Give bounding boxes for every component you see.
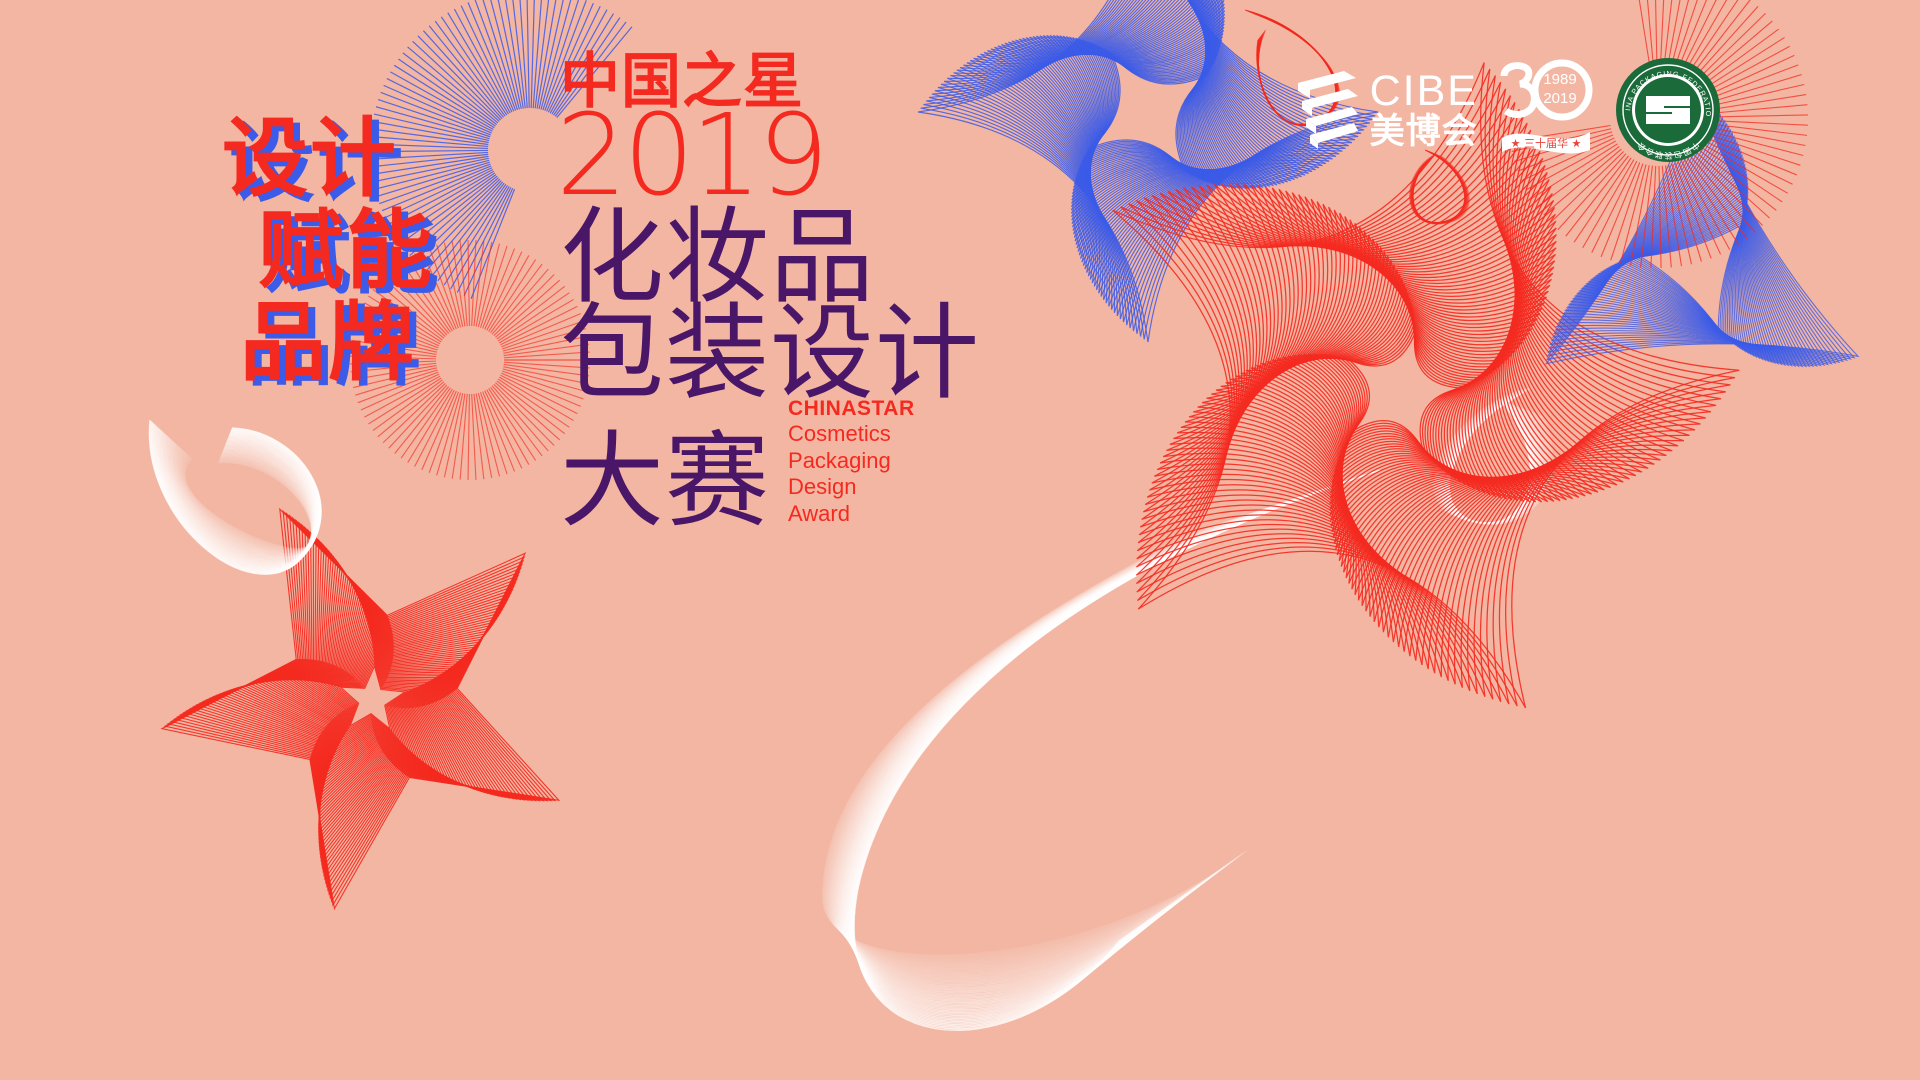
- red-left-star-spiral-icon: [162, 509, 559, 909]
- slogan-line-2: 赋能 赋能: [258, 210, 434, 302]
- anniversary-year-to: 2019: [1543, 90, 1576, 107]
- slogan-line-2-face: 赋能: [258, 201, 434, 301]
- slogan-block: 设计 设计 赋能 赋能 品牌 品牌: [222, 118, 434, 394]
- anniversary-30-badge: 1989 2019 ★ 三十届华 ★: [1498, 58, 1594, 162]
- cibe-latin-text: CIBE: [1370, 70, 1478, 114]
- english-head: CHINASTAR: [788, 396, 915, 421]
- main-title-block: 中国之星 2019 化妆品 包装设计 大赛 CHINASTAR Cosmetic…: [560, 52, 980, 533]
- title-bottom-row: 大赛 CHINASTAR Cosmetics Packaging Design …: [560, 396, 980, 533]
- cibe-chinese-text: 美博会: [1370, 115, 1478, 151]
- slogan-line-1: 设计 设计: [222, 118, 434, 210]
- slogan-line-3: 品牌 品牌: [240, 302, 434, 394]
- anniversary-year-from: 1989: [1543, 71, 1576, 88]
- title-line-competition: 大赛: [560, 429, 770, 533]
- title-year-wrap: 2019: [560, 108, 800, 208]
- english-line-packaging: Packaging: [788, 448, 915, 474]
- anniversary-ribbon: ★ 三十届华 ★: [1502, 132, 1590, 153]
- poster-canvas: 设计 设计 赋能 赋能 品牌 品牌 中国之星 2019 化妆品 包装设计 大赛 …: [0, 0, 1920, 1080]
- blue-four-point-spiral-icon: [913, 0, 1382, 347]
- english-subtitle-block: CHINASTAR Cosmetics Packaging Design Awa…: [788, 396, 915, 527]
- slogan-line-3-face: 品牌: [240, 293, 416, 393]
- cibe-wordmark: CIBE 美博会: [1370, 70, 1478, 151]
- english-line-design: Design: [788, 474, 915, 500]
- anniversary-ribbon-text: ★ 三十届华 ★: [1511, 136, 1582, 150]
- china-packaging-federation-logo: CHINA PACKAGING FEDERATION 中国包装联合会: [1614, 56, 1722, 164]
- cibe-mark-icon: [1296, 69, 1358, 151]
- cibe-logo: CIBE 美博会: [1296, 69, 1478, 151]
- title-year: 2019: [556, 100, 825, 212]
- slogan-line-1-face: 设计: [222, 109, 398, 209]
- white-loop-left-icon: [149, 420, 321, 574]
- title-line-packaging-design: 包装设计: [560, 300, 980, 406]
- logo-cluster: CIBE 美博会 1989 2019 ★ 三十届华 ★: [1296, 56, 1722, 164]
- english-line-cosmetics: Cosmetics: [788, 421, 915, 447]
- english-line-award: Award: [788, 501, 915, 527]
